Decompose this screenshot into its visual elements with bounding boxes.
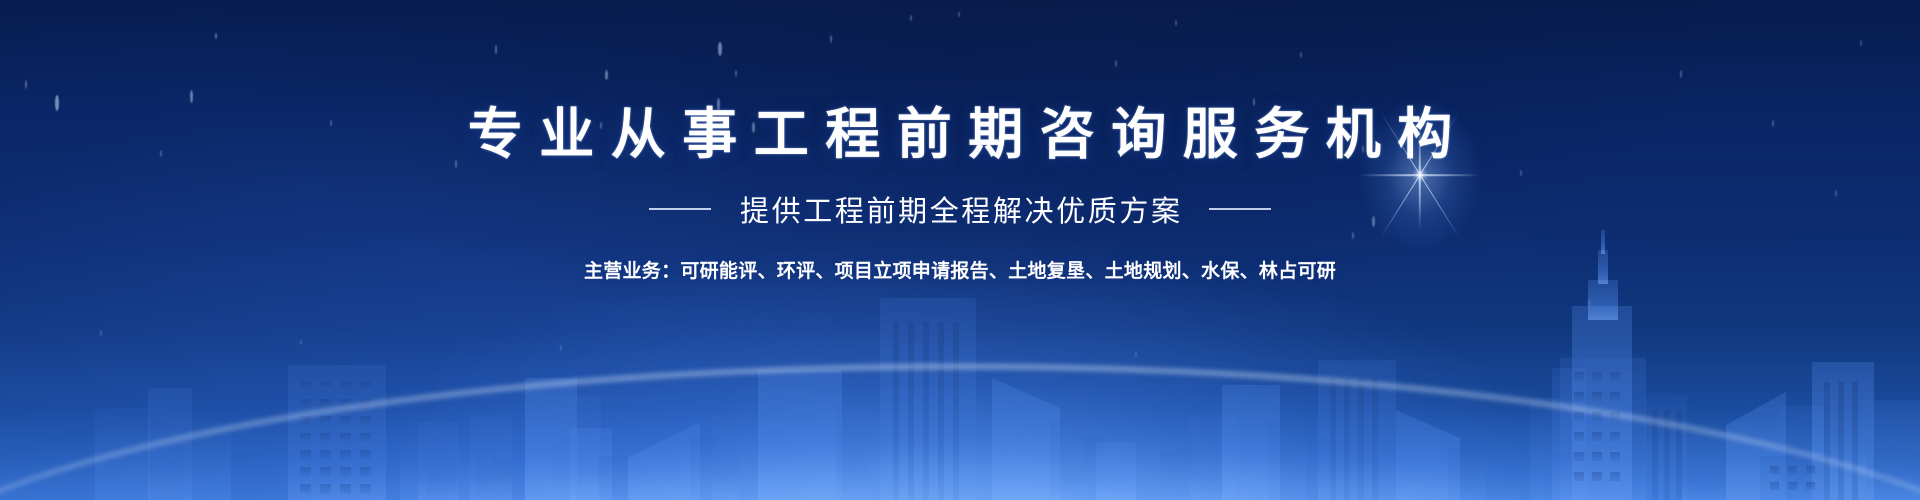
- banner-text-block: 专业从事工程前期咨询服务机构 提供工程前期全程解决优质方案 主营业务：可研能评、…: [0, 104, 1920, 283]
- banner-business-line: 主营业务：可研能评、环评、项目立项申请报告、土地复垦、土地规划、水保、林占可研: [0, 256, 1920, 283]
- banner-headline: 专业从事工程前期咨询服务机构: [0, 104, 1920, 166]
- dash-right-icon: [1209, 208, 1271, 210]
- banner-subtitle-row: 提供工程前期全程解决优质方案: [0, 188, 1920, 230]
- banner-subtitle: 提供工程前期全程解决优质方案: [737, 188, 1182, 230]
- dash-left-icon: [649, 208, 711, 210]
- hero-banner: 专业从事工程前期咨询服务机构 提供工程前期全程解决优质方案 主营业务：可研能评、…: [0, 0, 1920, 500]
